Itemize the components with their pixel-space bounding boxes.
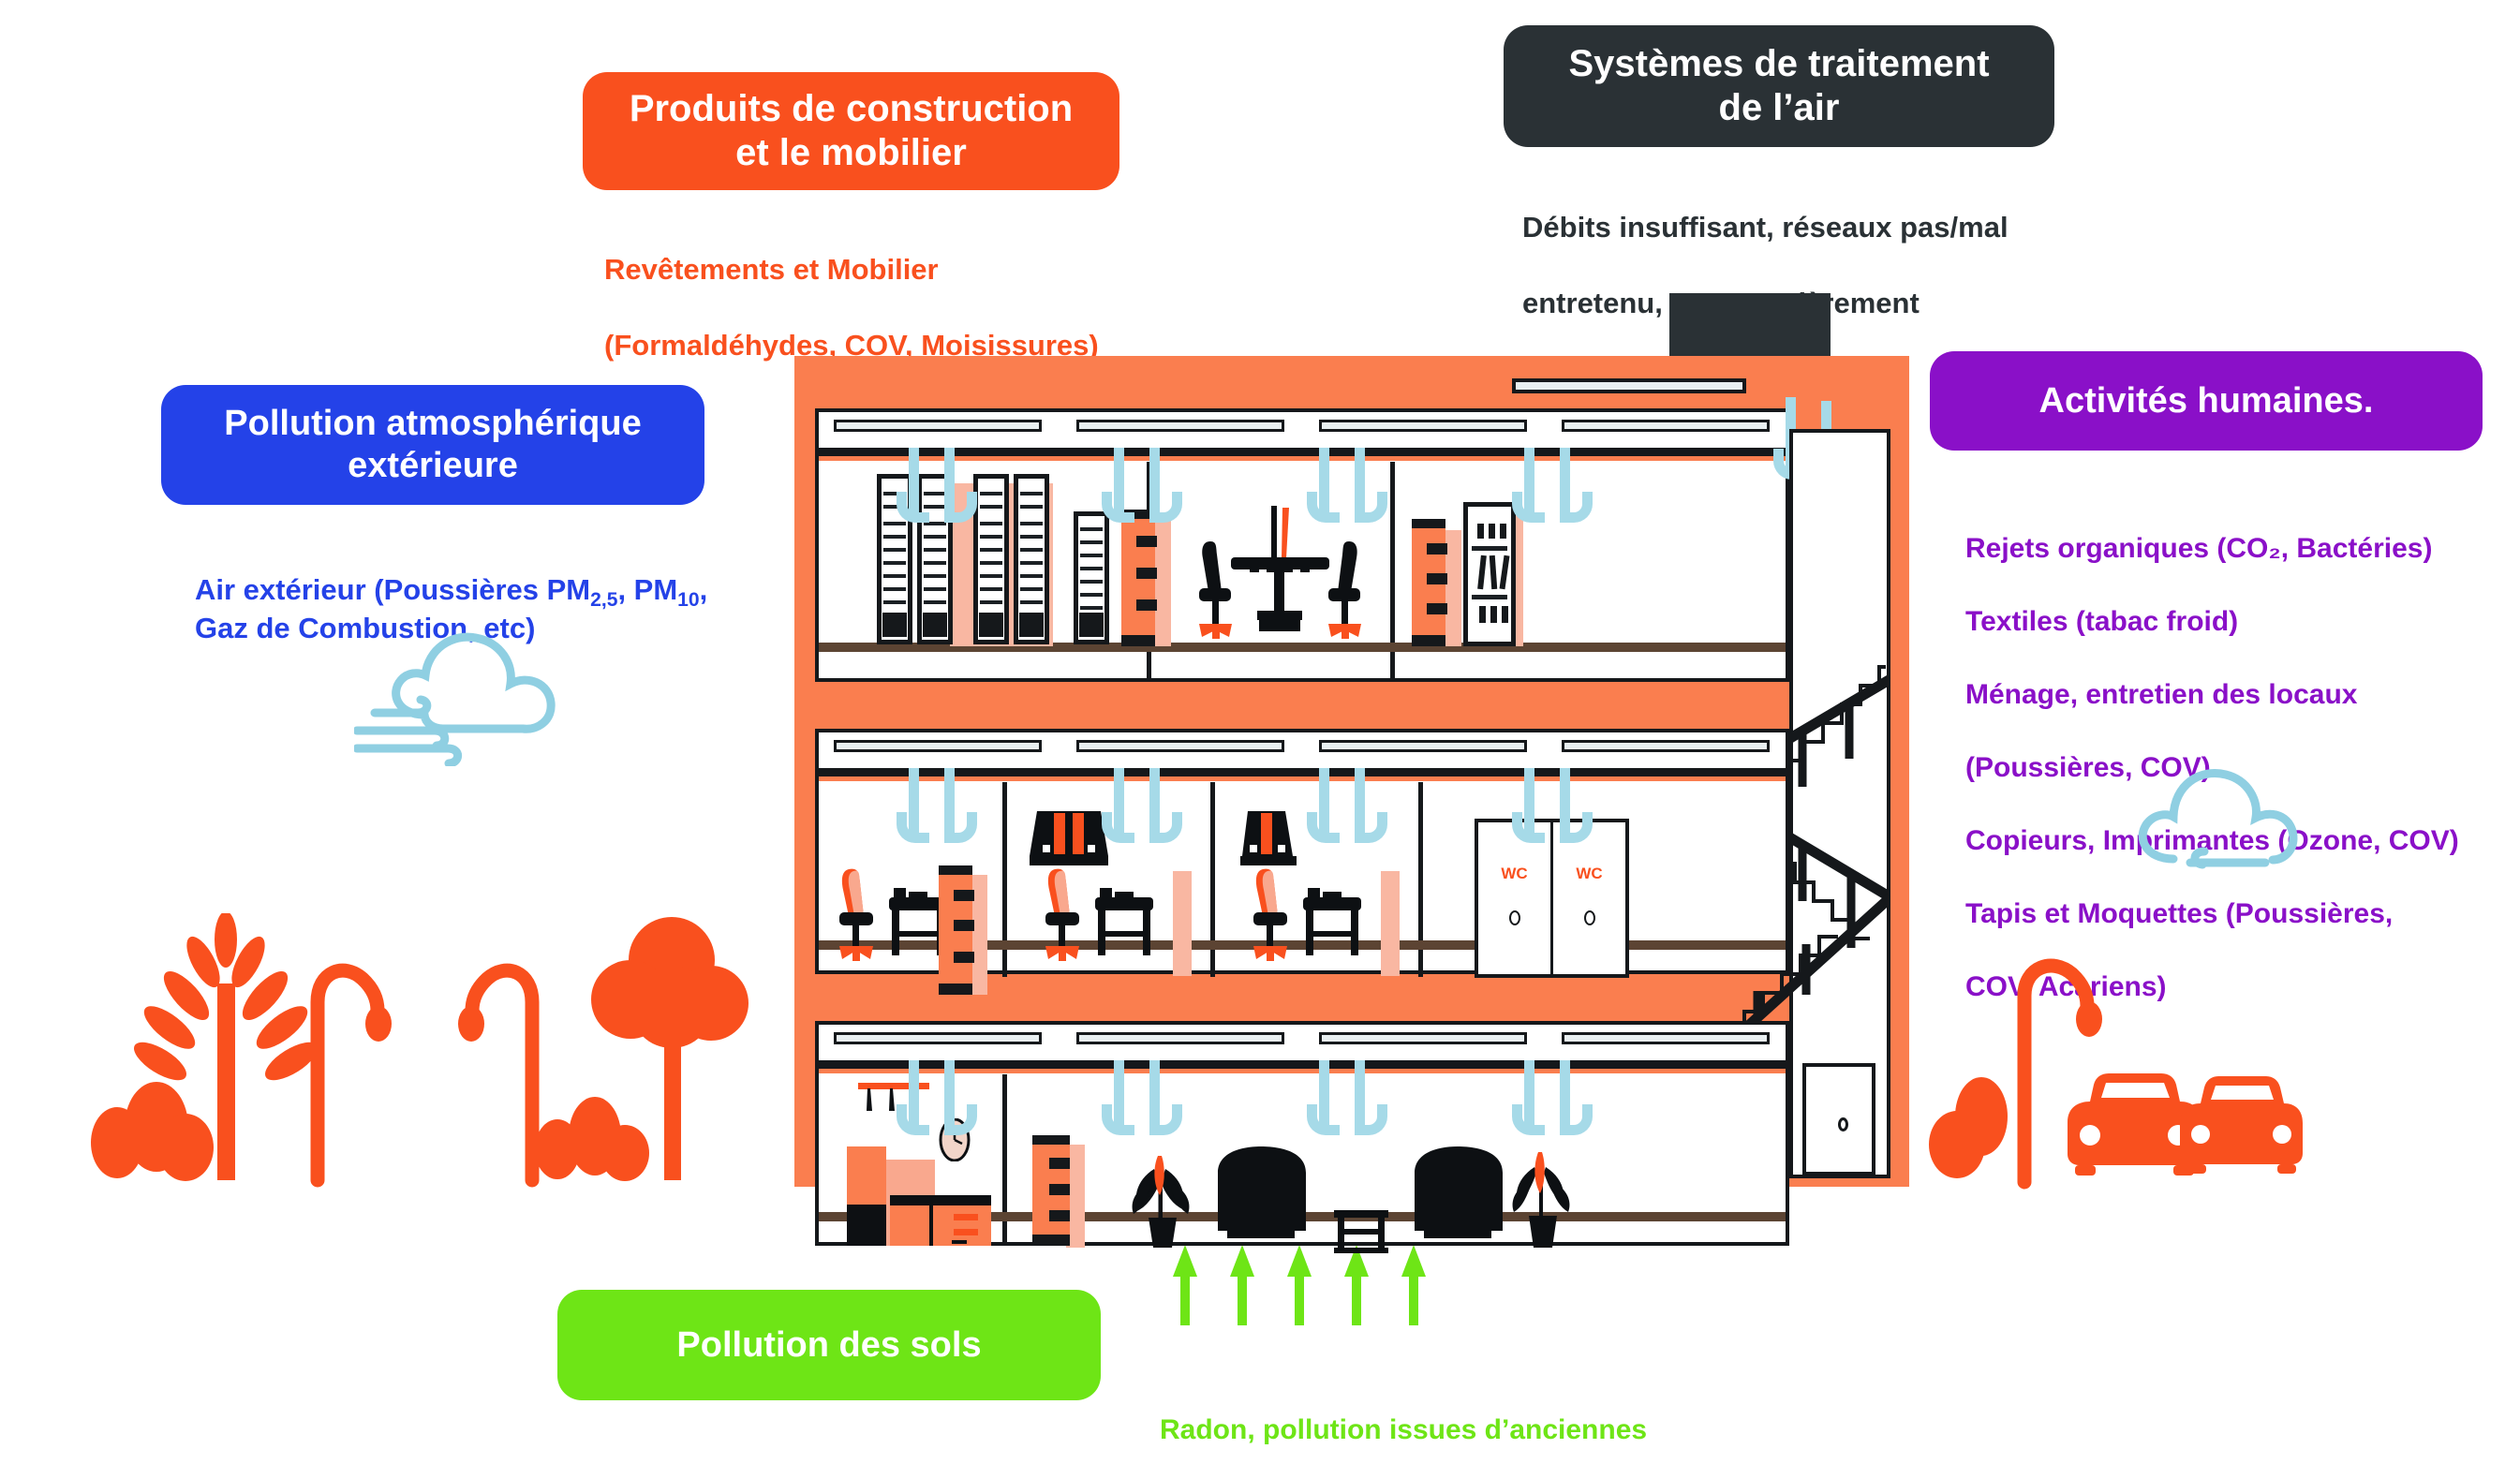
air-duct xyxy=(944,768,955,841)
ceiling-light xyxy=(1562,420,1770,432)
street-lamp xyxy=(458,970,532,1180)
ceiling-light xyxy=(834,420,1042,432)
air-duct xyxy=(1560,1060,1570,1133)
middle-floor-room: WC WC xyxy=(815,729,1789,974)
door-knob-icon xyxy=(1838,1117,1848,1131)
ceiling-light xyxy=(1562,1032,1770,1044)
round-tree-crown xyxy=(591,917,749,1048)
construction-sub-line-1: Revêtements et Mobilier xyxy=(604,251,1185,288)
ceiling-light xyxy=(1076,740,1284,752)
scenery-left xyxy=(89,913,763,1194)
street-lamp xyxy=(318,970,392,1180)
ceiling-slab xyxy=(819,1060,1786,1069)
air-duct xyxy=(944,1060,955,1133)
air-duct xyxy=(1319,448,1329,521)
outdoor-sub-mid: , PM xyxy=(617,573,677,606)
air-duct xyxy=(944,448,955,521)
furniture-shadow xyxy=(1173,871,1192,976)
door-knob-icon xyxy=(1584,910,1595,925)
callout-human-title: Activités humaines. xyxy=(1930,351,2483,451)
air-duct xyxy=(1355,768,1365,841)
wc-label: WC xyxy=(1553,865,1625,883)
tree-trunk xyxy=(664,1030,681,1180)
arrow-up-icon xyxy=(1401,1245,1426,1325)
wc-door[interactable]: WC xyxy=(1478,822,1553,974)
ceiling-light xyxy=(1076,1032,1284,1044)
server-rack xyxy=(1014,474,1049,644)
human-line: Rejets organiques (CO₂, Bactéries) xyxy=(1965,530,2520,567)
air-duct xyxy=(1319,768,1329,841)
callout-construction-title: Produits de construction et le mobilier xyxy=(583,72,1119,190)
ceiling-accent xyxy=(819,1069,1786,1073)
bush xyxy=(1955,1077,2008,1156)
air-duct xyxy=(909,448,919,521)
callout-soil-subtitle: Radon, pollution issues d’anciennes acti… xyxy=(1160,1375,1741,1464)
scenery-right xyxy=(1925,937,2365,1199)
air-duct xyxy=(1524,768,1534,841)
outdoor-sub-pm10: 10 xyxy=(677,589,699,611)
ceiling-accent xyxy=(819,776,1786,781)
cloud-icon xyxy=(2115,754,2321,885)
wc-door[interactable]: WC xyxy=(1553,822,1625,974)
meeting-table-set xyxy=(1192,506,1370,648)
server-rack xyxy=(973,474,1009,644)
callout-hvac-title: Systèmes de traitement de l’air xyxy=(1504,25,2054,147)
car xyxy=(2180,1076,2303,1174)
ceiling-light xyxy=(834,1032,1042,1044)
ceiling-light xyxy=(1562,740,1770,752)
arrow-up-icon xyxy=(1173,1245,1197,1325)
shelf-unit xyxy=(1463,502,1516,646)
ceiling-light xyxy=(1319,420,1527,432)
air-duct xyxy=(1149,1060,1160,1133)
air-duct xyxy=(1149,768,1160,841)
air-duct xyxy=(1355,1060,1365,1133)
air-duct xyxy=(1114,448,1124,521)
callout-soil-title: Pollution des sols xyxy=(557,1290,1101,1400)
orange-cabinet xyxy=(1412,519,1445,646)
human-line: Tapis et Moquettes (Poussières, xyxy=(1965,895,2520,932)
air-duct xyxy=(1355,448,1365,521)
human-line: Textiles (tabac froid) xyxy=(1965,603,2520,640)
roof-vent xyxy=(1512,378,1746,393)
orange-cabinet xyxy=(939,865,972,995)
air-duct xyxy=(909,768,919,841)
infographic-canvas: Produits de construction et le mobilier … xyxy=(0,0,2520,1464)
callout-outdoor-title: Pollution atmosphérique extérieure xyxy=(161,385,704,505)
outdoor-sub-pm25: 2,5 xyxy=(590,589,617,611)
stair-door[interactable] xyxy=(1802,1063,1875,1176)
toilets: WC WC xyxy=(1475,819,1629,978)
air-duct xyxy=(1560,768,1570,841)
building-cross-section: WC WC xyxy=(794,356,1909,1187)
air-duct xyxy=(1524,448,1534,521)
outdoor-sub-prefix: Air extérieur (Poussières PM xyxy=(195,573,590,606)
cloud-with-wind-icon xyxy=(354,626,598,766)
ceiling-slab xyxy=(819,768,1786,776)
top-floor-room xyxy=(815,408,1789,682)
ground-strip xyxy=(53,1185,2372,1226)
bush xyxy=(600,1125,649,1181)
rooftop-hvac-unit xyxy=(1669,293,1831,357)
ceiling-light xyxy=(1076,420,1284,432)
ceiling-light xyxy=(1319,1032,1527,1044)
arrow-up-icon xyxy=(1287,1245,1312,1325)
ceiling-accent xyxy=(819,456,1786,461)
hvac-sub-line-1: Débits insuffisant, réseaux pas/mal xyxy=(1522,209,2122,246)
air-duct xyxy=(1524,1060,1534,1133)
soil-sub-line-1: Radon, pollution issues d’anciennes xyxy=(1160,1412,1741,1448)
air-duct xyxy=(1114,1060,1124,1133)
ceiling-light xyxy=(834,740,1042,752)
human-line: Ménage, entretien des locaux xyxy=(1965,676,2520,713)
air-duct xyxy=(1114,768,1124,841)
server-rack-small xyxy=(1074,511,1109,644)
furniture-shadow xyxy=(1381,871,1400,976)
arrow-up-icon xyxy=(1230,1245,1254,1325)
door-knob-icon xyxy=(1509,910,1520,925)
air-duct xyxy=(909,1060,919,1133)
ceiling-slab xyxy=(819,448,1786,456)
air-duct xyxy=(1560,448,1570,521)
orange-cabinet xyxy=(1121,510,1155,646)
air-duct xyxy=(1319,1060,1329,1133)
bush xyxy=(157,1114,214,1181)
ceiling-light xyxy=(1319,740,1527,752)
air-duct xyxy=(1149,448,1160,521)
tree-trunk xyxy=(217,983,235,1180)
arrow-up-icon xyxy=(1344,1245,1369,1325)
wc-label: WC xyxy=(1478,865,1550,883)
